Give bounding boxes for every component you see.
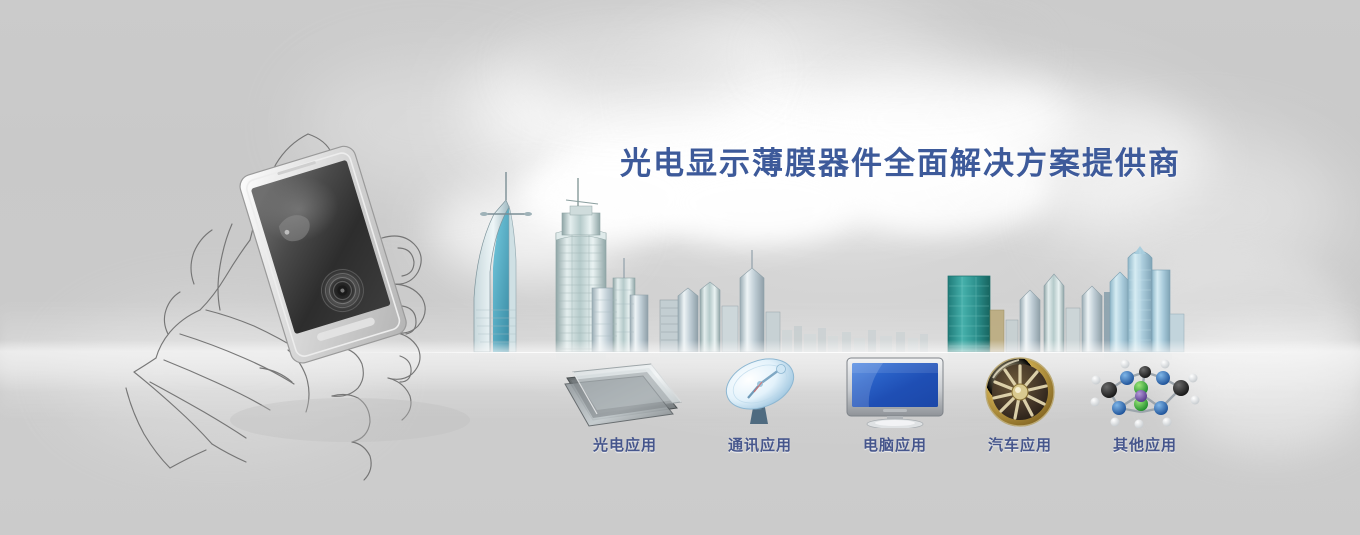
application-item-automotive[interactable]: 汽车应用 <box>950 356 1090 455</box>
satellite-dish-icon <box>690 356 830 428</box>
application-item-optoelectronic[interactable]: 光电应用 <box>555 356 695 455</box>
skyline-cluster-center <box>660 250 780 352</box>
application-label: 电脑应用 <box>825 434 965 455</box>
application-label: 其他应用 <box>1075 434 1215 455</box>
glass-film-panels-icon <box>555 356 695 428</box>
banner-stage: 光电显示薄膜器件全面解决方案提供商 <box>0 0 1360 535</box>
application-label: 汽车应用 <box>950 434 1090 455</box>
molecule-model-icon <box>1075 356 1215 428</box>
application-label: 通讯应用 <box>690 434 830 455</box>
application-label: 光电应用 <box>555 434 695 455</box>
application-item-computer[interactable]: 电脑应用 <box>825 356 965 455</box>
application-item-other[interactable]: 其他应用 <box>1075 356 1215 455</box>
application-item-communication[interactable]: 通讯应用 <box>690 356 830 455</box>
lcd-monitor-icon <box>825 356 965 428</box>
page-title: 光电显示薄膜器件全面解决方案提供商 <box>620 138 1181 183</box>
blue-glass-towers <box>1104 246 1184 352</box>
application-icon-row: 光电应用 <box>0 352 1360 462</box>
alloy-wheel-icon <box>950 356 1090 428</box>
phone-device <box>237 143 409 366</box>
